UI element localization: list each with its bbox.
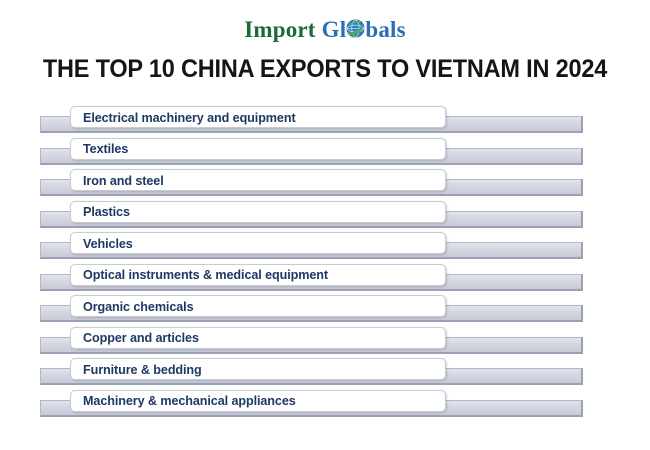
bar-label: Vehicles	[83, 236, 133, 251]
page-title: THE TOP 10 CHINA EXPORTS TO VIETNAM IN 2…	[20, 55, 631, 84]
chart-row: Copper and articles	[0, 325, 650, 356]
chart-row: Vehicles	[0, 230, 650, 261]
bar-label: Textiles	[83, 141, 128, 156]
bar-label-plate: Electrical machinery and equipment	[70, 106, 446, 128]
bar-label-plate: Vehicles	[70, 232, 446, 254]
chart-row: Organic chemicals	[0, 293, 650, 324]
brand-logo: ImportGl bals	[0, 18, 650, 41]
bar-label-plate: Textiles	[70, 138, 446, 160]
bar-label: Electrical machinery and equipment	[83, 110, 296, 125]
brand-name-import: Import	[244, 18, 315, 41]
bar-label-plate: Plastics	[70, 201, 446, 223]
brand-name-bals: bals	[365, 18, 405, 41]
chart-row: Textiles	[0, 136, 650, 167]
bar-label: Plastics	[83, 204, 130, 219]
bar-label-plate: Copper and articles	[70, 327, 446, 349]
bar-label: Furniture & bedding	[83, 362, 202, 377]
bar-label: Copper and articles	[83, 330, 199, 345]
bar-label: Iron and steel	[83, 173, 164, 188]
bar-label: Organic chemicals	[83, 299, 194, 314]
bar-label-plate: Iron and steel	[70, 169, 446, 191]
bar-label-plate: Organic chemicals	[70, 295, 446, 317]
chart-row: Furniture & bedding	[0, 356, 650, 387]
chart-row: Plastics	[0, 199, 650, 230]
bar-label-plate: Furniture & bedding	[70, 358, 446, 380]
brand-name-gl: Gl	[322, 18, 347, 41]
chart-row: Electrical machinery and equipment	[0, 104, 650, 135]
chart-row: Machinery & mechanical appliances	[0, 388, 650, 419]
chart-row: Iron and steel	[0, 167, 650, 198]
bar-label: Optical instruments & medical equipment	[83, 267, 328, 282]
globe-icon	[346, 19, 365, 38]
bar-label-plate: Optical instruments & medical equipment	[70, 264, 446, 286]
bar-label: Machinery & mechanical appliances	[83, 393, 296, 408]
ranked-bar-chart: Electrical machinery and equipment Texti…	[0, 104, 650, 434]
bar-label-plate: Machinery & mechanical appliances	[70, 390, 446, 412]
chart-row: Optical instruments & medical equipment	[0, 262, 650, 293]
